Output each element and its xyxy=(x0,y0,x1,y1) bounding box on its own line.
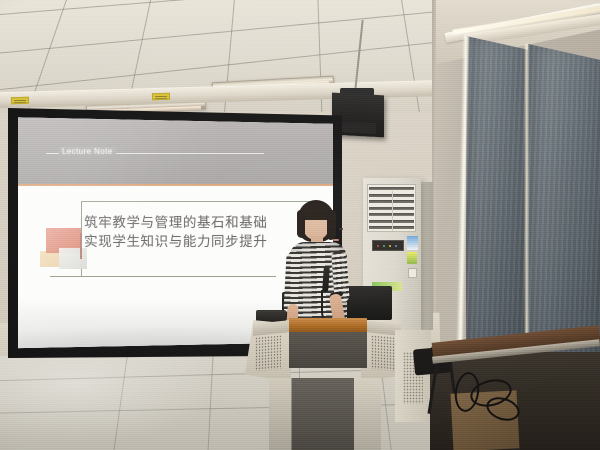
slide-rule-bottom xyxy=(50,276,277,277)
slide-header-label: Lecture Note xyxy=(59,147,116,156)
energy-label-blue xyxy=(407,236,418,250)
hair-side-left xyxy=(297,210,305,238)
air-conditioner-side-panel xyxy=(421,182,433,330)
slide-decoration-tick xyxy=(80,233,82,259)
classroom-presentation-photo: Lecture Note 筑牢教学与管理的基石和基础 实现学生知识与能力同步提升 xyxy=(0,0,600,450)
product-label-small xyxy=(408,268,417,278)
wall-sticker-left xyxy=(11,97,29,104)
wall-sticker-right xyxy=(152,93,170,100)
hair-side-right xyxy=(327,210,336,240)
presenter xyxy=(283,200,355,332)
podium-base xyxy=(269,378,381,450)
window-light-leak-far xyxy=(524,44,529,378)
lecture-podium[interactable] xyxy=(245,318,407,450)
slide-header-band: Lecture Note xyxy=(18,116,333,186)
window-blind-near[interactable] xyxy=(466,36,528,380)
energy-label-green xyxy=(407,252,417,264)
podium-front-panel xyxy=(289,332,367,368)
air-conditioner-control-panel[interactable] xyxy=(372,240,404,251)
podium-speaker-grille-left xyxy=(255,335,281,371)
podium-wood-top xyxy=(289,318,367,332)
vent-divider xyxy=(392,191,393,231)
mouth xyxy=(333,239,339,241)
slide-rule-top xyxy=(81,201,317,202)
eye-right xyxy=(339,228,343,230)
air-conditioner-vent xyxy=(367,184,416,232)
computer-tower[interactable] xyxy=(395,330,431,422)
slide-decoration-square-grey xyxy=(59,248,87,269)
podium-speaker-grille-right xyxy=(371,335,397,371)
